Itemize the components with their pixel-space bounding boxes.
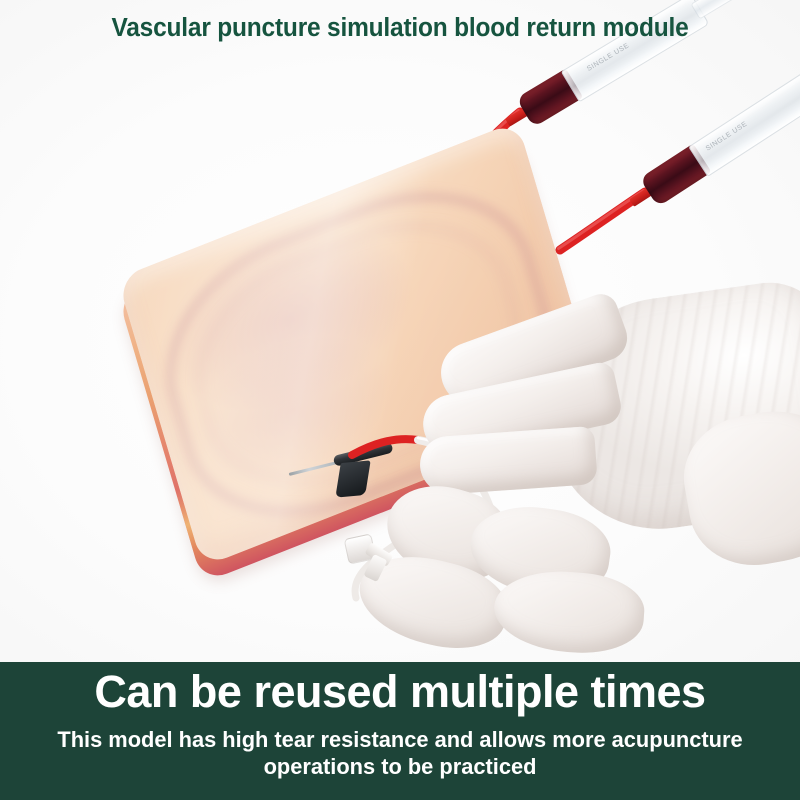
latex-glove-hand <box>398 292 800 662</box>
product-photo: SINGLE USE SINGLE USE Vascular puncture … <box>0 0 800 662</box>
bottom-banner: Can be reused multiple times This model … <box>0 662 800 800</box>
banner-headline: Can be reused multiple times <box>0 666 800 718</box>
banner-subline: This model has high tear resistance and … <box>12 726 788 780</box>
luer-connector-clamp <box>346 530 404 592</box>
banner-subline-line-1: This model has high tear resistance and … <box>12 726 788 753</box>
glove-finger-lower-3 <box>491 567 646 657</box>
product-poster: SINGLE USE SINGLE USE Vascular puncture … <box>0 0 800 800</box>
page-title: Vascular puncture simulation blood retur… <box>16 14 784 43</box>
banner-subline-line-2: operations to be practiced <box>12 753 788 780</box>
